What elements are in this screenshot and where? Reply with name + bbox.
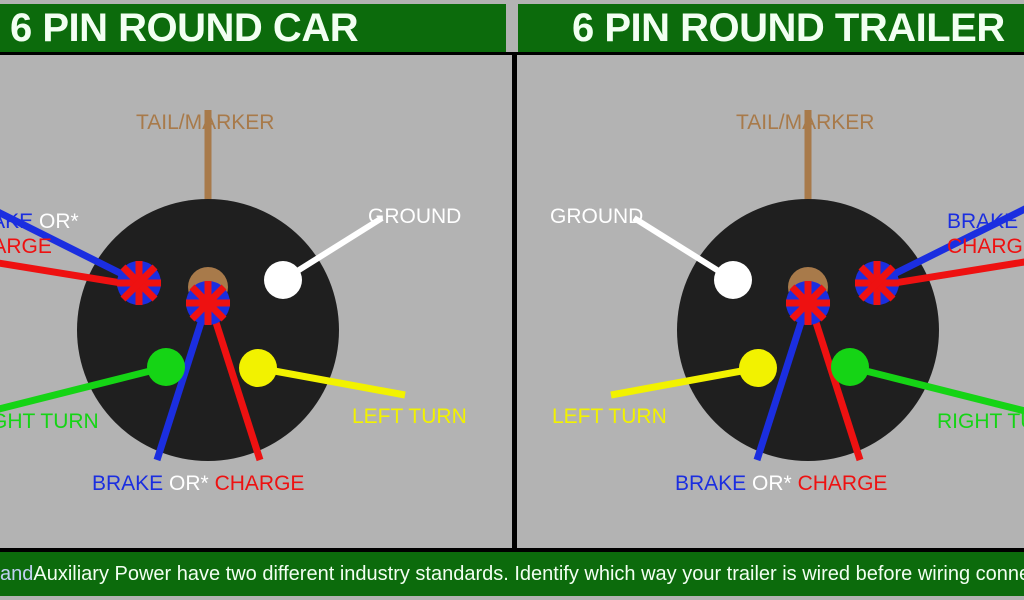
label-brake: BRAKE <box>0 210 33 233</box>
label-brake: BRAKE <box>675 472 746 495</box>
label-brake-upper-right: BRAKE <box>947 210 1018 234</box>
wiring-diagram-page: 6 PIN ROUND CAR 6 PIN ROUND TRAILER <box>0 0 1024 600</box>
label-charge-upper-right: CHARGE <box>947 235 1024 259</box>
header-banner-car: 6 PIN ROUND CAR <box>0 4 506 52</box>
pin-left-turn[interactable] <box>239 349 277 387</box>
label-or: OR* <box>169 472 209 495</box>
label-or: OR* <box>39 210 79 233</box>
label-right-turn: RIGHT TURN <box>0 410 99 434</box>
header-title-trailer: 6 PIN ROUND TRAILER <box>572 6 1005 51</box>
header-banner-trailer: 6 PIN ROUND TRAILER <box>518 4 1024 52</box>
connector-body <box>677 199 939 461</box>
header-title-car: 6 PIN ROUND CAR <box>10 6 358 51</box>
label-brake: BRAKE <box>92 472 163 495</box>
footer-note-banner: and Auxiliary Power have two different i… <box>0 552 1024 596</box>
label-ground: GROUND <box>368 205 461 229</box>
pin-brake-charge-center[interactable] <box>186 281 230 325</box>
label-left-turn: LEFT TURN <box>552 405 667 429</box>
label-ground: GROUND <box>550 205 643 229</box>
pin-ground[interactable] <box>714 261 752 299</box>
connector-body <box>77 199 339 461</box>
label-tail-marker: TAIL/MARKER <box>136 111 274 135</box>
pin-left-turn[interactable] <box>739 349 777 387</box>
pin-right-turn[interactable] <box>147 348 185 386</box>
pin-brake-charge-upper-left[interactable] <box>117 261 161 305</box>
label-left-turn: LEFT TURN <box>352 405 467 429</box>
label-charge: CHARGE <box>798 472 888 495</box>
pin-right-turn[interactable] <box>831 348 869 386</box>
label-tail-marker: TAIL/MARKER <box>736 111 874 135</box>
footer-note-text: Auxiliary Power have two different indus… <box>33 563 1024 586</box>
label-brake-or-upper-left: BRAKE OR* <box>0 210 79 234</box>
label-brake-or-charge-bottom: BRAKE OR* CHARGE <box>675 472 887 496</box>
label-brake-or-charge-bottom: BRAKE OR* CHARGE <box>92 472 304 496</box>
pin-brake-charge-upper-right[interactable] <box>855 261 899 305</box>
label-right-turn: RIGHT TURN <box>937 410 1024 434</box>
pin-ground[interactable] <box>264 261 302 299</box>
footer-lead-word: and <box>0 563 33 586</box>
pin-brake-charge-center[interactable] <box>786 281 830 325</box>
panel-car-connector: TAIL/MARKER GROUND RIGHT TURN LEFT TURN … <box>0 55 512 548</box>
label-charge: CHARGE <box>215 472 305 495</box>
label-charge-upper-left: CHARGE <box>0 235 52 259</box>
panel-trailer-connector: TAIL/MARKER GROUND LEFT TURN RIGHT TURN … <box>517 55 1024 548</box>
label-or: OR* <box>752 472 792 495</box>
